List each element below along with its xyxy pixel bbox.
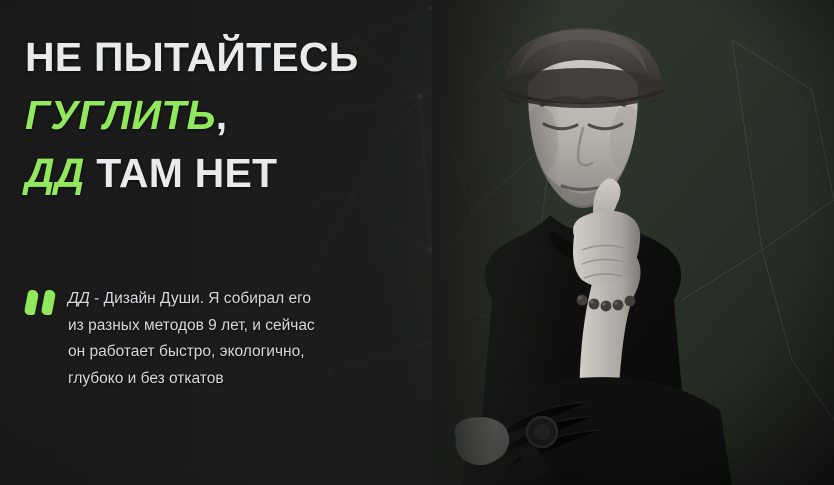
hero-banner: НЕ ПЫТАЙТЕСЬ ГУГЛИТЬ, ДД ТАМ НЕТ ДД - Ди… [0,0,834,485]
headline-line-3-text [85,150,97,196]
hero-headline: НЕ ПЫТАЙТЕСЬ ГУГЛИТЬ, ДД ТАМ НЕТ [25,28,495,202]
quote-body: ДД - Дизайн Души. Я собирал его из разны… [61,286,425,392]
headline-comma: , [216,92,228,138]
headline-accent-google: ГУГЛИТЬ [25,92,216,138]
headline-accent-dd: ДД [25,150,85,196]
quote-line-3: он работает быстро, экологично, [68,339,425,366]
quote-line-1: ДД - Дизайн Души. Я собирал его [68,286,425,313]
headline-line-3: ДД ТАМ НЕТ [25,144,495,202]
quote-lead-emphasis: ДД [68,290,90,307]
quote-mark-icon [25,290,61,316]
quote-line-4: глубоко и без откатов [68,366,425,393]
hero-quote: ДД - Дизайн Души. Я собирал его из разны… [25,286,425,392]
headline-line-2: ГУГЛИТЬ, [25,86,495,144]
quote-line-2: из разных методов 9 лет, и сейчас [68,313,425,340]
headline-line-1: НЕ ПЫТАЙТЕСЬ [25,28,495,86]
headline-line-1-text: НЕ ПЫТАЙТЕСЬ [25,34,358,80]
headline-line-3-rest: ТАМ НЕТ [96,150,277,196]
quote-line-1-rest: - Дизайн Души. Я собирал его [90,290,311,307]
